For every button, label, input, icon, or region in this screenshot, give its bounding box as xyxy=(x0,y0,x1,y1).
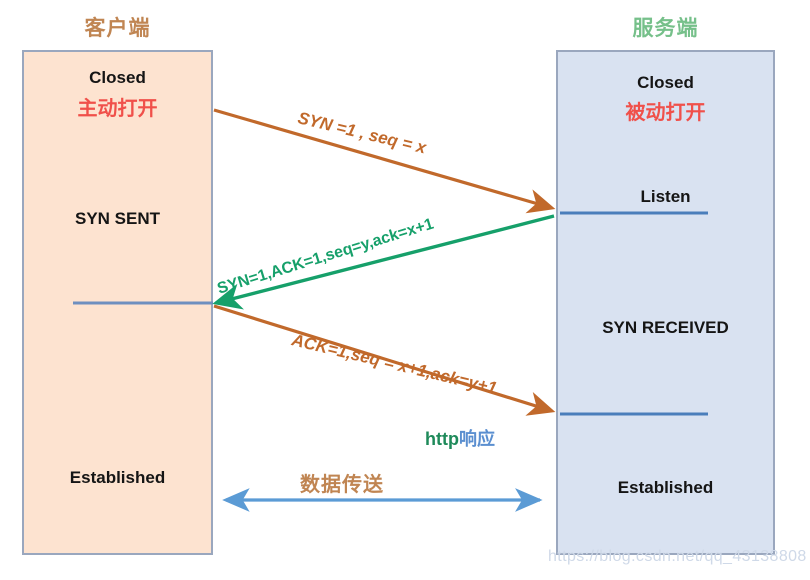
client-state-established: Established xyxy=(22,468,213,488)
client-state-active-open: 主动打开 xyxy=(22,92,213,121)
watermark-text: https://blog.csdn.net/qq_43138808 xyxy=(548,548,807,566)
server-state-syn-received: SYN RECEIVED xyxy=(556,318,775,338)
client-title: 客户端 xyxy=(22,12,213,42)
server-state-closed: Closed xyxy=(556,73,775,93)
http-response-label: http响应 xyxy=(425,425,495,451)
diagram-canvas: 客户端 服务端 Closed 主动打开 SYN SENT Established… xyxy=(0,0,810,580)
data-transfer-label: 数据传送 xyxy=(300,468,384,497)
server-title: 服务端 xyxy=(556,12,775,42)
client-state-closed: Closed xyxy=(22,68,213,88)
server-state-passive-open: 被动打开 xyxy=(556,96,775,125)
http-response-prefix: http xyxy=(425,429,459,449)
server-state-listen: Listen xyxy=(556,187,775,207)
http-response-suffix: 响应 xyxy=(459,429,495,449)
server-state-established: Established xyxy=(556,478,775,498)
syn-arrow xyxy=(214,110,552,208)
client-state-syn-sent: SYN SENT xyxy=(22,209,213,229)
